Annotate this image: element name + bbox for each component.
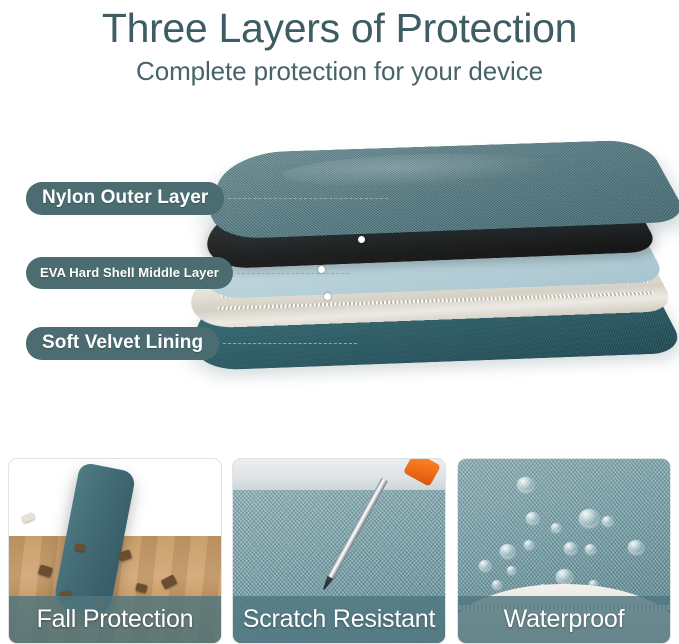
waterproof-caption: Waterproof <box>458 596 670 643</box>
water-droplet <box>556 569 573 584</box>
leader-line-velvet <box>223 343 357 344</box>
feature-panel-waterproof[interactable]: Waterproof <box>457 458 671 644</box>
fall-protection-caption: Fall Protection <box>9 596 221 643</box>
scratch-resistant-caption: Scratch Resistant <box>233 596 445 643</box>
callout-nylon-outer-layer: Nylon Outer Layer <box>26 182 388 215</box>
leader-line-eva <box>237 273 349 274</box>
nylon-layer-marker <box>358 236 365 243</box>
scriber-tool <box>327 477 388 580</box>
waterproof-label: Waterproof <box>504 605 625 634</box>
leader-line-nylon <box>228 198 388 199</box>
water-droplet <box>524 540 534 549</box>
water-droplet <box>500 544 515 558</box>
infographic-root: Three Layers of Protection Complete prot… <box>0 0 679 644</box>
water-droplet <box>564 542 577 554</box>
water-droplet <box>628 540 644 554</box>
water-droplet <box>507 566 516 574</box>
feature-panels: Fall Protection Scratch Resistant <box>0 458 679 644</box>
water-droplet <box>526 512 539 524</box>
debris-chip <box>74 543 85 551</box>
velvet-layer-marker <box>324 293 331 300</box>
feature-panel-fall-protection[interactable]: Fall Protection <box>8 458 222 644</box>
callout-label-eva: EVA Hard Shell Middle Layer <box>26 257 233 289</box>
callout-label-nylon: Nylon Outer Layer <box>26 182 224 215</box>
water-droplet <box>479 560 491 571</box>
feature-panel-scratch-resistant[interactable]: Scratch Resistant <box>232 458 446 644</box>
water-droplet <box>602 516 613 526</box>
water-droplet <box>551 523 561 532</box>
water-droplet <box>579 509 599 527</box>
water-droplet <box>585 544 596 554</box>
hero-exploded-view: Nylon Outer Layer EVA Hard Shell Middle … <box>0 100 679 450</box>
callout-eva-hard-shell: EVA Hard Shell Middle Layer <box>26 257 349 289</box>
scriber-tip <box>321 575 334 591</box>
callout-soft-velvet-lining: Soft Velvet Lining <box>26 327 357 360</box>
fall-protection-label: Fall Protection <box>37 605 194 634</box>
water-droplet <box>517 477 534 492</box>
callout-label-velvet: Soft Velvet Lining <box>26 327 219 360</box>
debris-chip <box>21 512 35 523</box>
page-title: Three Layers of Protection <box>0 0 679 52</box>
header: Three Layers of Protection Complete prot… <box>0 0 679 87</box>
page-subtitle: Complete protection for your device <box>0 52 679 87</box>
scratch-resistant-label: Scratch Resistant <box>243 605 436 634</box>
water-droplet <box>492 580 502 589</box>
